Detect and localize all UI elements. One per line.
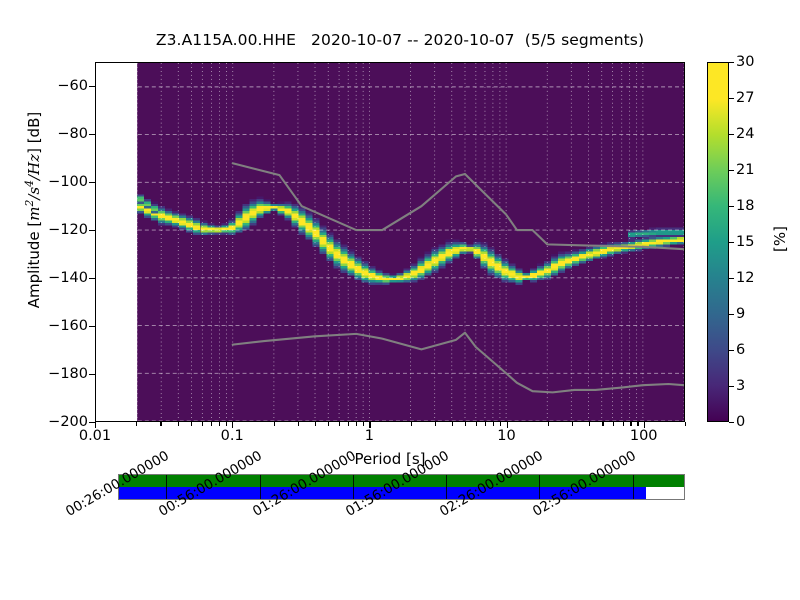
x-axis-minor-tick-mark xyxy=(202,422,203,426)
colorbar-tick-mark xyxy=(729,98,734,99)
colorbar-tick-label: 30 xyxy=(736,55,754,70)
x-axis-minor-tick-mark xyxy=(363,422,364,426)
x-axis-tick-label: 1 xyxy=(365,428,374,444)
colorbar-tick-label: 3 xyxy=(736,379,745,394)
y-axis-label-unit-hz: Hz xyxy=(25,154,43,175)
y-axis-tick-mark xyxy=(89,374,95,375)
y-axis-tick-mark xyxy=(89,278,95,279)
y-axis-label-unit-m-exp: 2 xyxy=(23,200,36,207)
timeline-tick-mark xyxy=(539,475,540,499)
x-axis-minor-tick-mark xyxy=(548,422,549,426)
timeline-tick-mark xyxy=(260,475,261,499)
x-axis-minor-tick-mark xyxy=(315,422,316,426)
x-axis-minor-tick-mark xyxy=(348,422,349,426)
x-axis-minor-tick-mark xyxy=(435,422,436,426)
y-axis-tick-label: −140 xyxy=(48,271,88,286)
x-axis-minor-tick-mark xyxy=(465,422,466,426)
colorbar-gradient xyxy=(708,63,728,421)
colorbar-tick-mark xyxy=(729,278,734,279)
colorbar-tick-label: 9 xyxy=(736,307,745,322)
x-axis-minor-tick-mark xyxy=(411,422,412,426)
y-axis-tick-label: −80 xyxy=(57,127,88,142)
y-axis-tick-mark xyxy=(89,326,95,327)
x-axis-minor-tick-mark xyxy=(298,422,299,426)
x-axis-minor-tick-mark xyxy=(613,422,614,426)
y-axis-tick-label: −100 xyxy=(48,175,88,190)
x-axis-label: Period [s] xyxy=(95,450,685,468)
ppsd-histogram-field xyxy=(96,63,684,421)
colorbar-tick-label: 18 xyxy=(736,199,754,214)
x-axis-minor-tick-mark xyxy=(623,422,624,426)
y-axis-tick-label: −120 xyxy=(48,223,88,238)
y-axis-tick-mark xyxy=(89,230,95,231)
y-axis-tick-label: −180 xyxy=(48,367,88,382)
y-axis-label-unit-s: s xyxy=(25,187,43,195)
colorbar-tick-mark xyxy=(729,206,734,207)
colorbar-tick-label: 0 xyxy=(736,415,745,430)
ppsd-plot-area[interactable] xyxy=(95,62,685,422)
y-axis-tick-label: −160 xyxy=(48,319,88,334)
colorbar[interactable] xyxy=(707,62,729,422)
colorbar-tick-mark xyxy=(729,386,734,387)
x-axis-tick-label: 0.1 xyxy=(221,428,244,444)
x-axis-tick-label: 10 xyxy=(497,428,515,444)
x-axis-minor-tick-mark xyxy=(602,422,603,426)
colorbar-tick-label: 21 xyxy=(736,163,754,178)
colorbar-tick-mark xyxy=(729,350,734,351)
y-axis-tick-mark xyxy=(89,182,95,183)
colorbar-tick-label: 6 xyxy=(736,343,745,358)
peterson-noise-model-curves xyxy=(96,63,684,421)
x-axis-minor-tick-mark xyxy=(500,422,501,426)
colorbar-tick-label: 24 xyxy=(736,127,754,142)
x-axis-minor-tick-mark xyxy=(572,422,573,426)
x-axis-minor-tick-mark xyxy=(328,422,329,426)
timeline-tick-mark xyxy=(446,475,447,499)
x-axis-minor-tick-mark xyxy=(226,422,227,426)
colorbar-tick-mark xyxy=(729,242,734,243)
x-axis-minor-tick-mark xyxy=(191,422,192,426)
x-axis-tick-label: 0.01 xyxy=(79,428,111,444)
colorbar-label: [%] xyxy=(771,179,789,299)
x-axis-minor-tick-mark xyxy=(136,422,137,426)
x-axis-tick-label: 100 xyxy=(630,428,658,444)
x-axis-minor-tick-mark xyxy=(211,422,212,426)
x-axis-minor-tick-mark xyxy=(160,422,161,426)
x-axis-minor-tick-mark xyxy=(274,422,275,426)
timeline-tick-mark xyxy=(166,475,167,499)
x-axis-minor-tick-mark xyxy=(485,422,486,426)
colorbar-tick-mark xyxy=(729,422,734,423)
x-axis-minor-tick-mark xyxy=(178,422,179,426)
x-axis-minor-tick-mark xyxy=(493,422,494,426)
timeline-tick-mark xyxy=(353,475,354,499)
x-axis-minor-tick-mark xyxy=(637,422,638,426)
x-axis-minor-tick-mark xyxy=(356,422,357,426)
page-title: Z3.A115A.00.HHE 2020-10-07 -- 2020-10-07… xyxy=(0,31,800,49)
colorbar-tick-label: 15 xyxy=(736,235,754,250)
y-axis-label-unit-s-exp: 4 xyxy=(23,180,36,187)
colorbar-tick-mark xyxy=(729,62,734,63)
y-axis-label-unit-m: m xyxy=(25,206,43,220)
y-axis-tick-label: −60 xyxy=(57,79,88,94)
x-axis-minor-tick-mark xyxy=(339,422,340,426)
y-axis-label: Amplitude [m2/s4/Hz] [dB] xyxy=(23,45,43,375)
y-axis-label-suffix: ] [dB] xyxy=(25,112,43,154)
y-axis-tick-mark xyxy=(89,86,95,87)
x-axis-minor-tick-mark xyxy=(589,422,590,426)
colorbar-tick-label: 12 xyxy=(736,271,754,286)
colorbar-tick-mark xyxy=(729,314,734,315)
colorbar-tick-mark xyxy=(729,134,734,135)
y-axis-tick-mark xyxy=(89,134,95,135)
x-axis-minor-tick-mark xyxy=(476,422,477,426)
colorbar-tick-label: 27 xyxy=(736,91,754,106)
x-axis-minor-tick-mark xyxy=(630,422,631,426)
timeline-tick-mark xyxy=(633,475,634,499)
y-axis-label-prefix: Amplitude [ xyxy=(25,221,43,309)
x-axis-minor-tick-mark xyxy=(219,422,220,426)
x-axis-minor-tick-mark xyxy=(685,422,686,426)
x-axis-minor-tick-mark xyxy=(452,422,453,426)
colorbar-tick-mark xyxy=(729,170,734,171)
